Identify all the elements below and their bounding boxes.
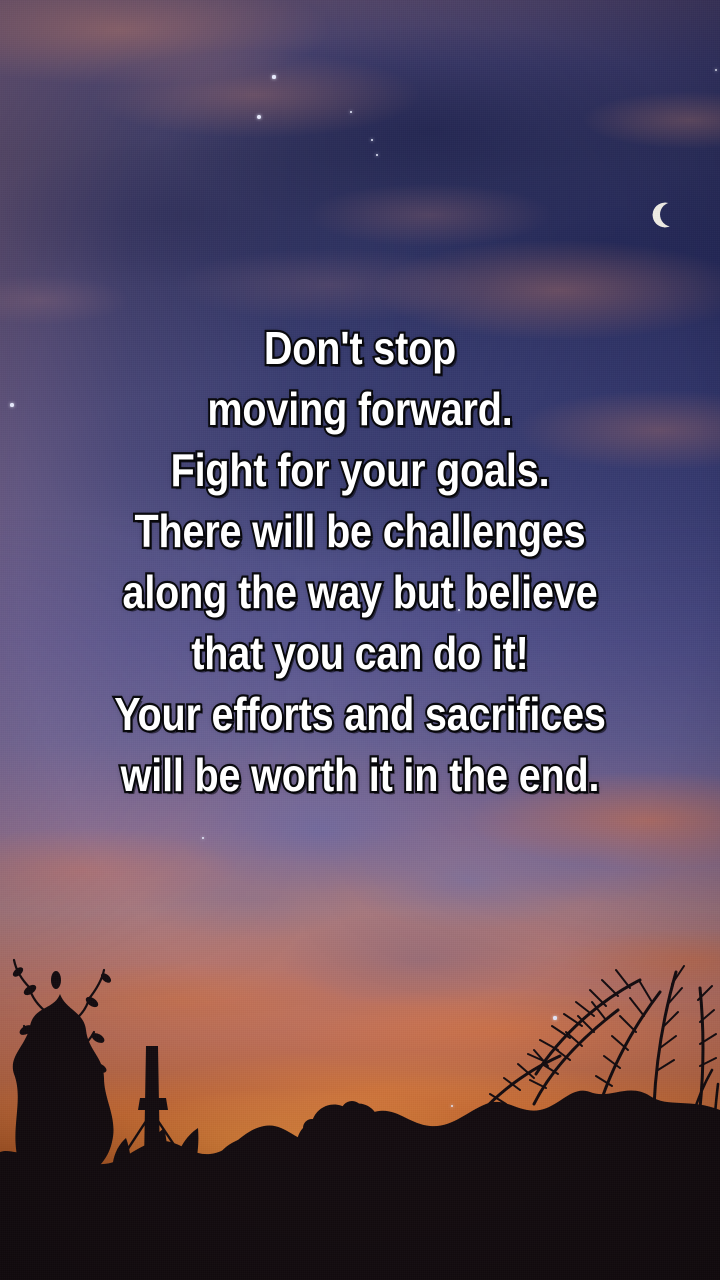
star (202, 837, 205, 840)
quote-line-8: will be worth it in the end. (50, 745, 669, 806)
star (272, 75, 275, 78)
star (257, 115, 262, 120)
quote-line-3: Fight for your goals. (50, 440, 669, 501)
treeline-silhouette (0, 860, 720, 1280)
star (376, 154, 379, 157)
quote-line-7: Your efforts and sacrifices (50, 684, 669, 745)
quote-line-4: There will be challenges (50, 501, 669, 562)
star (350, 111, 353, 114)
crescent-moon-icon (643, 193, 688, 238)
quote-line-6: that you can do it! (50, 623, 669, 684)
quote-line-1: Don't stop (50, 318, 669, 379)
wallpaper-canvas: Don't stop moving forward. Fight for you… (0, 0, 720, 1280)
quote-line-5: along the way but believe (50, 562, 669, 623)
quote-line-2: moving forward. (50, 379, 669, 440)
star (371, 139, 373, 141)
star (715, 69, 718, 72)
quote-text-block: Don't stop moving forward. Fight for you… (0, 318, 720, 806)
